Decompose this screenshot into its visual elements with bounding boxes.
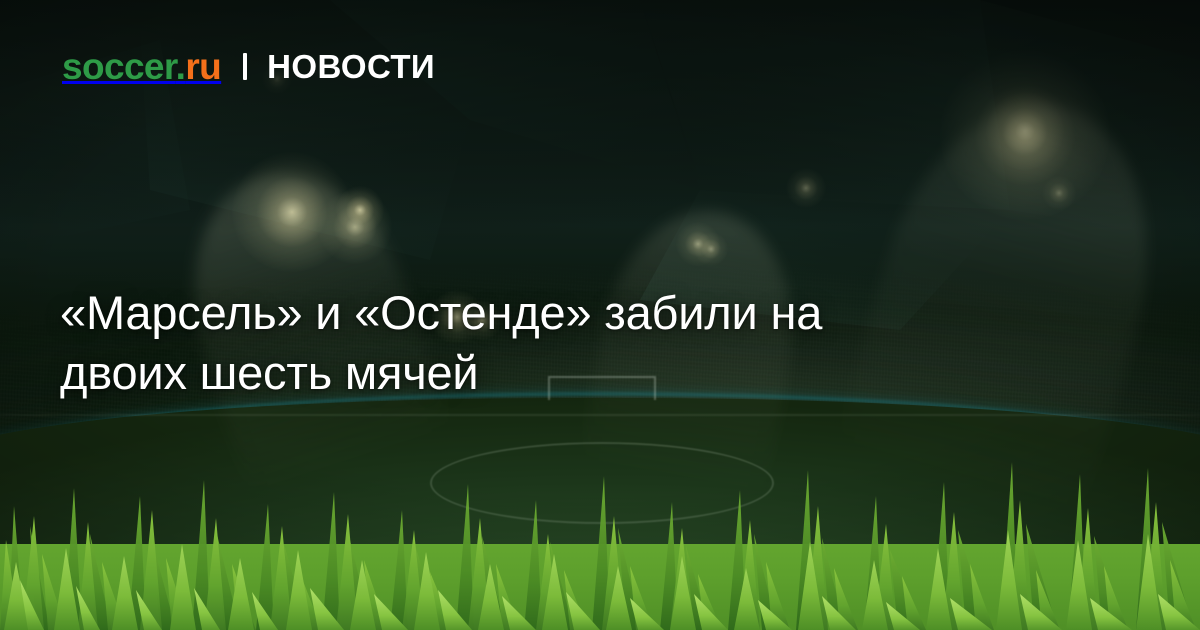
news-share-card: soccer.ru НОВОСТИ «Марсель» и «Остенде» … (0, 0, 1200, 630)
header-separator (243, 53, 247, 80)
logo-dot: . (176, 46, 186, 87)
foreground-grass (0, 430, 1200, 630)
logo-brand-text: soccer (62, 46, 176, 87)
logo-tld-text: ru (185, 46, 221, 87)
headline-line-2: двоих шесть мячей (60, 343, 1080, 403)
site-logo[interactable]: soccer.ru (62, 48, 221, 85)
grass-blades (0, 430, 1200, 630)
header-section-label: НОВОСТИ (267, 50, 435, 83)
headline-line-1: «Марсель» и «Остенде» забили на (60, 283, 1080, 343)
page-title: «Марсель» и «Остенде» забили на двоих ше… (60, 283, 1080, 403)
site-header: soccer.ru НОВОСТИ (62, 48, 435, 85)
